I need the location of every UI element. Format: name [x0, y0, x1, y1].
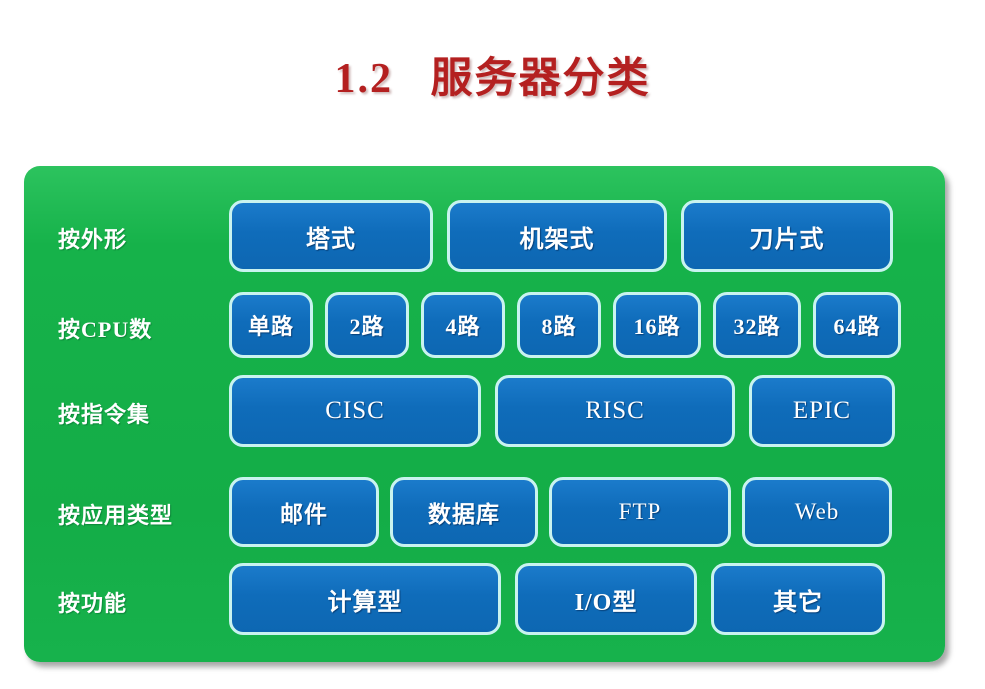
- row-cells: 单路2路4路8路16路32路64路: [229, 292, 901, 358]
- row-cells: 邮件数据库FTPWeb: [229, 477, 892, 547]
- row-label-3: 按指令集: [58, 397, 150, 429]
- row-label-4: 按应用类型: [58, 498, 173, 530]
- category-cell[interactable]: EPIC: [749, 375, 895, 447]
- category-cell[interactable]: 2路: [325, 292, 409, 358]
- row-cells: 计算型I/O型其它: [229, 563, 885, 635]
- category-cell[interactable]: 8路: [517, 292, 601, 358]
- category-cell[interactable]: 数据库: [390, 477, 538, 547]
- classification-panel: 按外形塔式机架式刀片式按CPU数单路2路4路8路16路32路64路按指令集CIS…: [24, 166, 945, 662]
- category-cell[interactable]: Web: [742, 477, 892, 547]
- category-cell[interactable]: CISC: [229, 375, 481, 447]
- row-label-5: 按功能: [58, 586, 127, 618]
- page-title: 1.2 服务器分类: [0, 44, 985, 105]
- category-cell[interactable]: 其它: [711, 563, 885, 635]
- category-cell[interactable]: 16路: [613, 292, 701, 358]
- category-cell[interactable]: 64路: [813, 292, 901, 358]
- row-cells: 塔式机架式刀片式: [229, 200, 893, 272]
- row-cells: CISCRISCEPIC: [229, 375, 895, 447]
- category-cell[interactable]: RISC: [495, 375, 735, 447]
- category-cell[interactable]: 刀片式: [681, 200, 893, 272]
- category-cell[interactable]: I/O型: [515, 563, 697, 635]
- category-cell[interactable]: 4路: [421, 292, 505, 358]
- category-cell[interactable]: FTP: [549, 477, 731, 547]
- category-cell[interactable]: 计算型: [229, 563, 501, 635]
- category-cell[interactable]: 32路: [713, 292, 801, 358]
- row-label-1: 按外形: [58, 222, 127, 254]
- row-label-2: 按CPU数: [58, 312, 152, 344]
- category-cell[interactable]: 邮件: [229, 477, 379, 547]
- category-cell[interactable]: 机架式: [447, 200, 667, 272]
- category-cell[interactable]: 塔式: [229, 200, 433, 272]
- category-cell[interactable]: 单路: [229, 292, 313, 358]
